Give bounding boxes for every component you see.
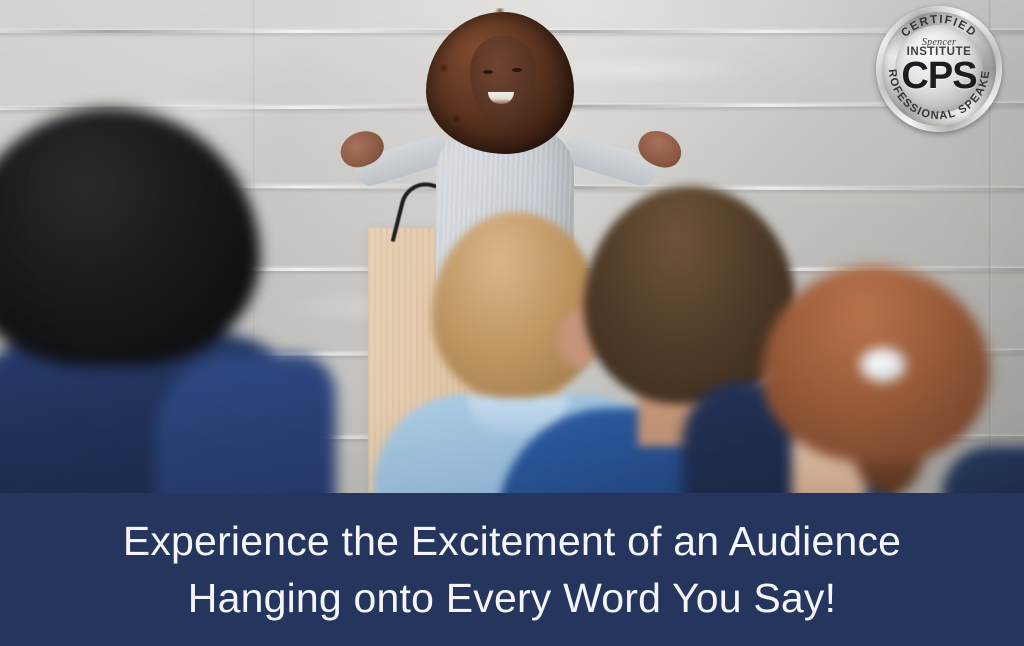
presenter-eye-left (483, 70, 493, 74)
audience-member-ponytail (742, 296, 1024, 495)
audience-shoulder (942, 446, 1024, 495)
audience-hair-tie (860, 348, 906, 382)
headline-line-2: Hanging onto Every Word You Say! (188, 570, 836, 627)
headline-banner: Experience the Excitement of an Audience… (0, 493, 1024, 646)
promo-graphic: CERTIFIED PROFESSIONAL SPEAKER Spencer I… (0, 0, 1024, 646)
audience-head (0, 108, 260, 366)
hero-photo (0, 0, 1024, 495)
audience-member-dark-hair (0, 108, 290, 495)
cps-certification-badge: CERTIFIED PROFESSIONAL SPEAKER Spencer I… (876, 6, 1002, 132)
headline-line-1: Experience the Excitement of an Audience (123, 513, 901, 570)
badge-acronym: CPS (876, 56, 1002, 97)
audience-shoulder (156, 354, 336, 495)
presenter-eye-right (512, 68, 522, 72)
badge-top-arc-label: CERTIFIED (899, 13, 980, 40)
